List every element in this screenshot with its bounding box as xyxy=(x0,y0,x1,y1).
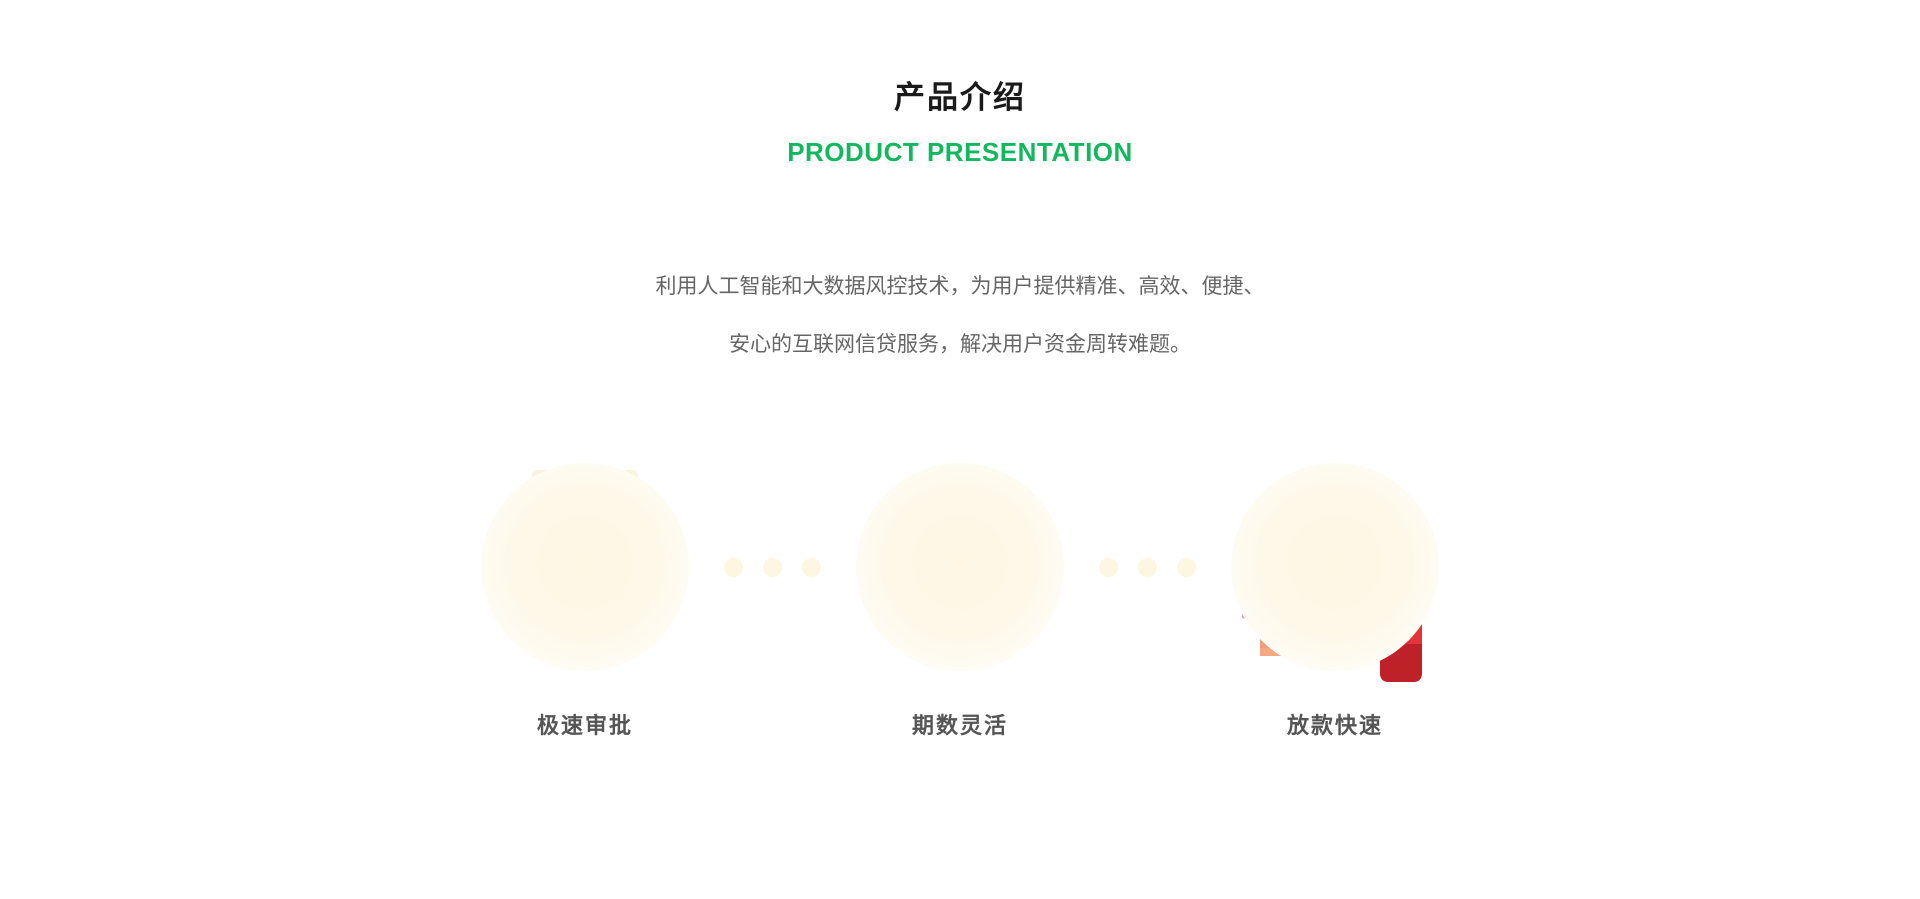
feature-item-fast-payout[interactable]: 放款快速 xyxy=(1210,452,1460,740)
page-title: 产品介绍 xyxy=(0,78,1920,118)
feature-row: 极速审批 xyxy=(430,452,1490,740)
connector-dot xyxy=(1138,558,1157,577)
page-header: 产品介绍 PRODUCT PRESENTATION xyxy=(0,0,1920,170)
connector-dots-1 xyxy=(710,452,835,682)
feature-caption: 期数灵活 xyxy=(912,708,1008,740)
connector-dot xyxy=(763,558,782,577)
connector-dot xyxy=(1177,558,1196,577)
description-line-2: 安心的互联网信贷服务，解决用户资金周转难题。 xyxy=(510,316,1410,374)
connector-dot xyxy=(724,558,743,577)
connector-dots-2 xyxy=(1085,452,1210,682)
feature-item-flexible-terms[interactable]: 期数灵活 xyxy=(835,452,1085,740)
glow-backdrop xyxy=(856,463,1064,671)
product-presentation-page: 产品介绍 PRODUCT PRESENTATION 利用人工智能和大数据风控技术… xyxy=(0,0,1920,899)
description-line-1: 利用人工智能和大数据风控技术，为用户提供精准、高效、便捷、 xyxy=(510,258,1410,316)
description-block: 利用人工智能和大数据风控技术，为用户提供精准、高效、便捷、 安心的互联网信贷服务… xyxy=(510,258,1410,374)
document-envelope-illustration xyxy=(470,452,700,682)
feature-item-approval[interactable]: 极速审批 xyxy=(460,452,710,740)
glow-backdrop xyxy=(481,463,689,671)
connector-dot xyxy=(802,558,821,577)
page-subtitle: PRODUCT PRESENTATION xyxy=(0,136,1920,170)
feature-caption: 极速审批 xyxy=(537,708,633,740)
hand-money-illustration xyxy=(1220,452,1450,682)
connector-dot xyxy=(1099,558,1118,577)
checklist-pen-illustration xyxy=(845,452,1075,682)
feature-caption: 放款快速 xyxy=(1287,708,1383,740)
glow-backdrop xyxy=(1231,463,1439,671)
